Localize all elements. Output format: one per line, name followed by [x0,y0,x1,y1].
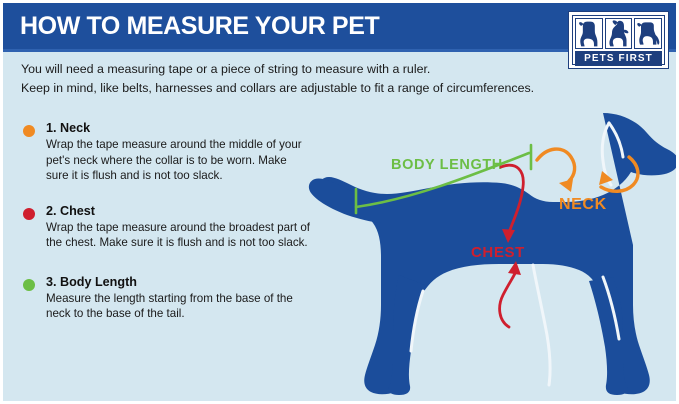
bullet-icon-chest [23,208,35,220]
bullet-icon-body-length [23,279,35,291]
measurement-steps-list: 1. Neck Wrap the tape measure around the… [21,121,311,342]
dog-diagram: BODY LENGTH NECK CHEST [303,95,679,404]
intro-text: You will need a measuring tape or a piec… [21,60,601,98]
pet-measurement-infographic: HOW TO MEASURE YOUR PET [0,0,679,404]
step-body-chest: Wrap the tape measure around the broades… [46,220,311,251]
step-title-neck: 1. Neck [46,121,311,136]
step-body-body-length: Measure the length starting from the bas… [46,291,311,322]
logo-frame: PETS FIRST [572,15,665,65]
page-title: HOW TO MEASURE YOUR PET [20,12,379,41]
step-title-chest: 2. Chest [46,204,311,219]
label-chest: CHEST [471,244,525,261]
list-item: 2. Chest Wrap the tape measure around th… [21,204,311,251]
label-neck: NECK [559,196,607,213]
sitting-dog-icon [575,18,603,49]
step-body-neck: Wrap the tape measure around the middle … [46,137,311,184]
logo-dog-panels [573,16,664,51]
label-body-length: BODY LENGTH [391,157,503,173]
list-item: 3. Body Length Measure the length starti… [21,275,311,322]
list-item: 1. Neck Wrap the tape measure around the… [21,121,311,184]
intro-line-1: You will need a measuring tape or a piec… [21,60,601,79]
begging-dog-icon [605,18,633,49]
bullet-icon-neck [23,125,35,137]
step-title-body-length: 3. Body Length [46,275,311,290]
standing-dog-icon [634,18,662,49]
